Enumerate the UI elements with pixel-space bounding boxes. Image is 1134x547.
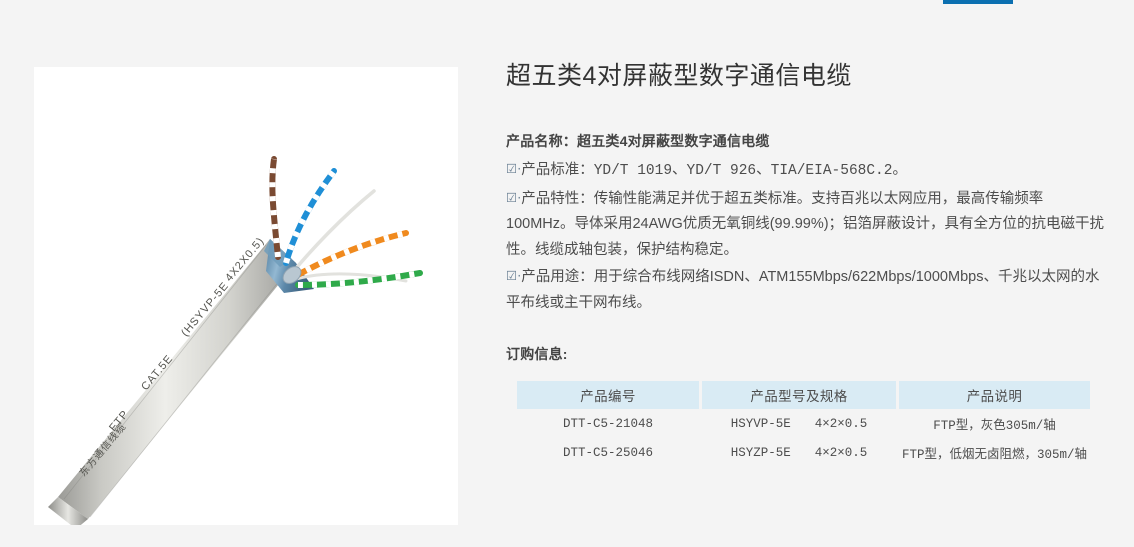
check-box-icon: ☑ xyxy=(506,190,517,205)
cell-product-desc: FTP型，灰色305m/轴 xyxy=(899,409,1090,438)
spec-label-features: 产品特性： xyxy=(521,191,594,207)
cell-model-name: HSYVP-5E xyxy=(731,417,791,431)
spec-value-usage: 用于综合布线网络ISDN、ATM155Mbps/622Mbps/1000Mbps… xyxy=(506,269,1099,311)
table-row: DTT-C5-21048 HSYVP-5E 4×2×0.5 FTP型，灰色305… xyxy=(517,409,1090,438)
spec-value-standard: YD/T 1019、YD/T 926、TIA/EIA-568C.2。 xyxy=(594,163,907,179)
table-row: DTT-C5-25046 HSYZP-5E 4×2×0.5 FTP型，低烟无卤阻… xyxy=(517,438,1090,467)
column-header-desc: 产品说明 xyxy=(899,381,1090,409)
spec-block: 产品名称：超五类4对屏蔽型数字通信电缆 ☑·产品标准：YD/T 1019、YD/… xyxy=(506,129,1106,317)
cell-model-spec: 4×2×0.5 xyxy=(815,446,868,460)
check-box-icon: ☑ xyxy=(506,161,517,176)
spec-item-standard: ☑·产品标准：YD/T 1019、YD/T 926、TIA/EIA-568C.2… xyxy=(506,156,1106,185)
spec-item-usage: ☑·产品用途：用于综合布线网络ISDN、ATM155Mbps/622Mbps/1… xyxy=(506,263,1106,316)
cell-product-model: HSYVP-5E 4×2×0.5 xyxy=(702,409,896,438)
spec-label-standard: 产品标准： xyxy=(521,162,594,178)
product-photo: 4X2X0.5) (HSYVP-5E CAT.5E FTP 东方通信线缆 xyxy=(34,67,458,525)
column-header-code: 产品编号 xyxy=(517,381,699,409)
cell-product-code: DTT-C5-21048 xyxy=(517,409,699,438)
spec-value-features: 传输性能满足并优于超五类标准。支持百兆以太网应用，最高传输频率100MHz。导体… xyxy=(506,191,1104,258)
product-image-panel: 4X2X0.5) (HSYVP-5E CAT.5E FTP 东方通信线缆 xyxy=(34,67,458,525)
product-detail-page: 4X2X0.5) (HSYVP-5E CAT.5E FTP 东方通信线缆 xyxy=(0,0,1134,547)
product-content: 超五类4对屏蔽型数字通信电缆 产品名称：超五类4对屏蔽型数字通信电缆 ☑·产品标… xyxy=(506,60,1106,467)
page-title: 超五类4对屏蔽型数字通信电缆 xyxy=(506,60,1106,93)
top-accent-bar xyxy=(943,0,1013,4)
product-name-line: 产品名称：超五类4对屏蔽型数字通信电缆 xyxy=(506,129,1106,155)
cell-model-spec: 4×2×0.5 xyxy=(815,417,868,431)
spec-label-usage: 产品用途： xyxy=(521,269,594,285)
cell-model-name: HSYZP-5E xyxy=(731,446,791,460)
table-header-row: 产品编号 产品型号及规格 产品说明 xyxy=(517,381,1090,409)
order-info-table: 产品编号 产品型号及规格 产品说明 DTT-C5-21048 HSYVP-5E … xyxy=(514,381,1093,467)
order-info-heading: 订购信息: xyxy=(506,344,1106,364)
column-header-model: 产品型号及规格 xyxy=(702,381,896,409)
cell-product-model: HSYZP-5E 4×2×0.5 xyxy=(702,438,896,467)
spec-item-features: ☑·产品特性：传输性能满足并优于超五类标准。支持百兆以太网应用，最高传输频率10… xyxy=(506,185,1106,264)
check-box-icon: ☑ xyxy=(506,268,517,283)
cell-product-desc: FTP型，低烟无卤阻燃，305m/轴 xyxy=(899,438,1090,467)
product-name-value: 超五类4对屏蔽型数字通信电缆 xyxy=(577,133,770,149)
product-name-label: 产品名称： xyxy=(506,133,577,149)
cell-product-code: DTT-C5-25046 xyxy=(517,438,699,467)
